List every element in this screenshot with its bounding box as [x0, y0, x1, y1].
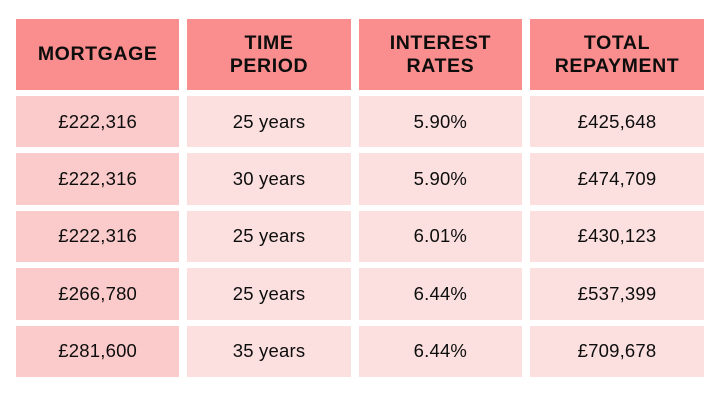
cell-total-repayment: £537,399 — [530, 268, 704, 319]
column-header-total-repayment: TOTAL REPAYMENT — [530, 19, 704, 90]
cell-mortgage: £266,780 — [16, 268, 179, 319]
column-header-time-period: TIME PERIOD — [187, 19, 350, 90]
table-row: £222,316 30 years 5.90% £474,709 — [16, 153, 704, 204]
table-row: £222,316 25 years 6.01% £430,123 — [16, 211, 704, 262]
cell-interest-rates: 5.90% — [359, 153, 522, 204]
cell-interest-rates: 6.44% — [359, 326, 522, 377]
cell-total-repayment: £474,709 — [530, 153, 704, 204]
mortgage-comparison-table: MORTGAGE TIME PERIOD INTEREST RATES TOTA… — [8, 13, 712, 383]
cell-time-period: 25 years — [187, 268, 350, 319]
cell-interest-rates: 5.90% — [359, 96, 522, 147]
cell-time-period: 35 years — [187, 326, 350, 377]
table-row: £222,316 25 years 5.90% £425,648 — [16, 96, 704, 147]
table-header: MORTGAGE TIME PERIOD INTEREST RATES TOTA… — [16, 19, 704, 90]
table-row: £266,780 25 years 6.44% £537,399 — [16, 268, 704, 319]
cell-time-period: 30 years — [187, 153, 350, 204]
cell-mortgage: £222,316 — [16, 153, 179, 204]
cell-total-repayment: £425,648 — [530, 96, 704, 147]
cell-mortgage: £281,600 — [16, 326, 179, 377]
cell-total-repayment: £430,123 — [530, 211, 704, 262]
column-header-mortgage: MORTGAGE — [16, 19, 179, 90]
cell-time-period: 25 years — [187, 211, 350, 262]
cell-mortgage: £222,316 — [16, 96, 179, 147]
mortgage-comparison-table-container: MORTGAGE TIME PERIOD INTEREST RATES TOTA… — [0, 0, 720, 404]
table-row: £281,600 35 years 6.44% £709,678 — [16, 326, 704, 377]
cell-time-period: 25 years — [187, 96, 350, 147]
cell-interest-rates: 6.01% — [359, 211, 522, 262]
table-body: £222,316 25 years 5.90% £425,648 £222,31… — [16, 96, 704, 377]
cell-interest-rates: 6.44% — [359, 268, 522, 319]
cell-mortgage: £222,316 — [16, 211, 179, 262]
column-header-interest-rates: INTEREST RATES — [359, 19, 522, 90]
cell-total-repayment: £709,678 — [530, 326, 704, 377]
table-header-row: MORTGAGE TIME PERIOD INTEREST RATES TOTA… — [16, 19, 704, 90]
